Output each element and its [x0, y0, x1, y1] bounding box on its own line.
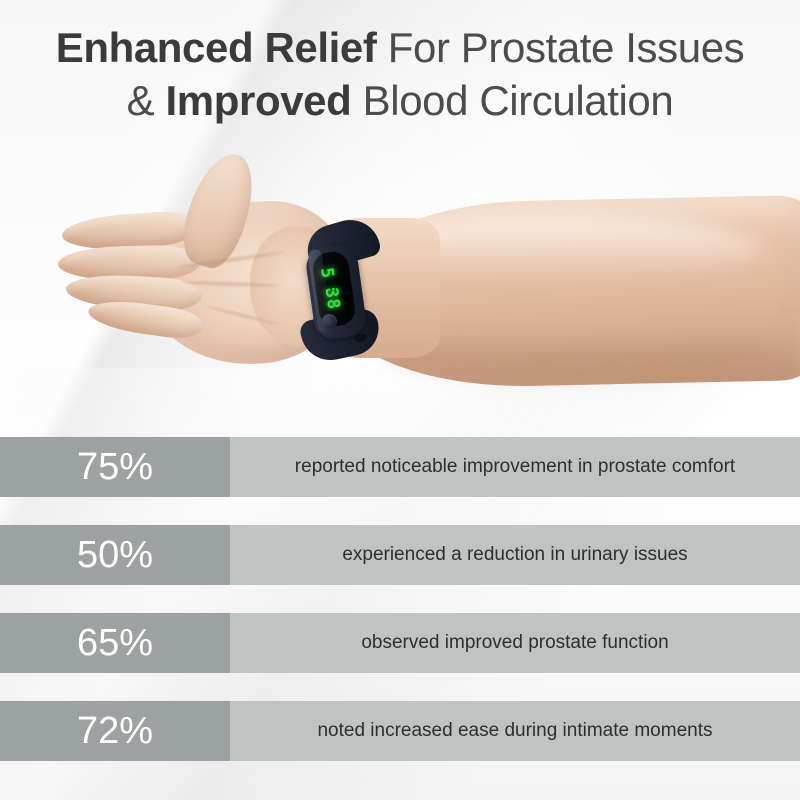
stat-description: reported noticeable improvement in prost… [230, 437, 800, 497]
headline: Enhanced Relief For Prostate Issues & Im… [0, 22, 800, 128]
headline-ampersand: & [127, 77, 166, 124]
statistics-list: 75% reported noticeable improvement in p… [0, 437, 800, 789]
led-minutes: 38 [322, 287, 342, 312]
stat-description: noted increased ease during intimate mom… [230, 701, 800, 761]
headline-line-1: Enhanced Relief For Prostate Issues [0, 22, 800, 75]
promotional-poster: Enhanced Relief For Prostate Issues & Im… [0, 0, 800, 800]
product-photo: 5 : 38 [0, 140, 800, 430]
headline-line-2-rest: Blood Circulation [351, 77, 673, 124]
stat-percent: 75% [0, 437, 230, 497]
headline-line-2: & Improved Blood Circulation [0, 75, 800, 128]
led-hours: 5 [317, 267, 335, 281]
headline-line-1-rest: For Prostate Issues [376, 24, 744, 71]
led-wristband: 5 : 38 [296, 222, 382, 357]
stat-percent: 65% [0, 613, 230, 673]
stat-percent: 50% [0, 525, 230, 585]
stat-row: 50% experienced a reduction in urinary i… [0, 525, 800, 585]
stat-percent: 72% [0, 701, 230, 761]
stat-row: 75% reported noticeable improvement in p… [0, 437, 800, 497]
headline-emphasis-improved: Improved [166, 77, 352, 124]
stat-row: 72% noted increased ease during intimate… [0, 701, 800, 761]
stat-row: 65% observed improved prostate function [0, 613, 800, 673]
headline-emphasis-enhanced-relief: Enhanced Relief [56, 24, 377, 71]
stat-description: experienced a reduction in urinary issue… [230, 525, 800, 585]
forearm-shadow [380, 330, 780, 374]
stat-description: observed improved prostate function [230, 613, 800, 673]
